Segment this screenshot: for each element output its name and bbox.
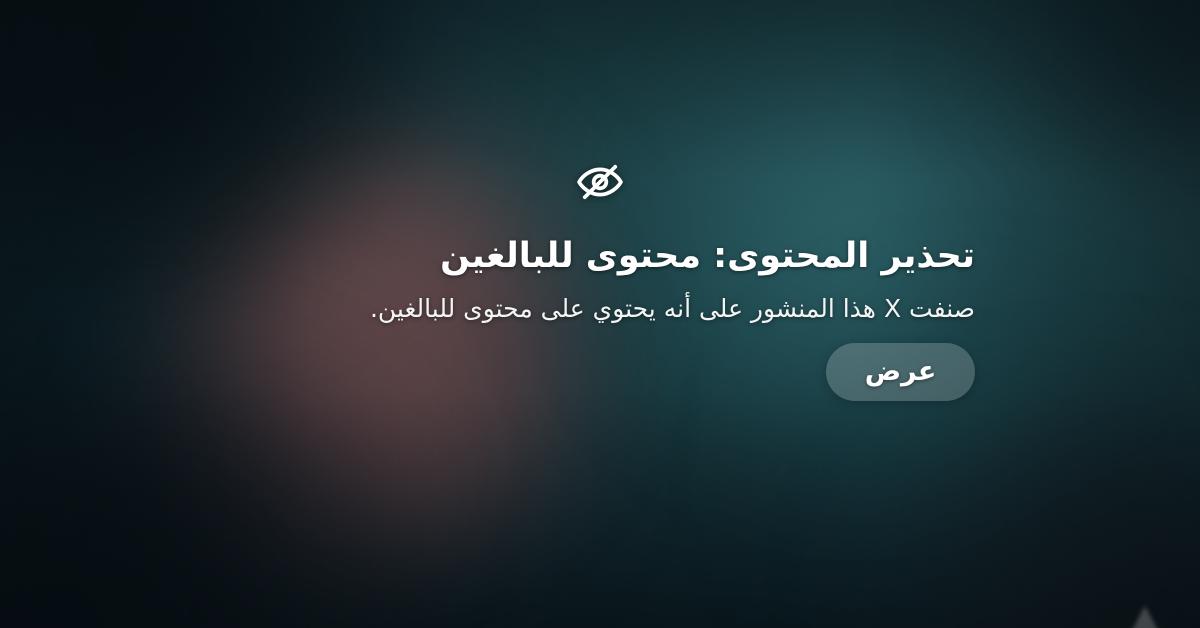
view-content-button[interactable]: عرض [826, 343, 975, 401]
page-title: تحذير المحتوى: محتوى للبالغين [225, 235, 975, 279]
content-warning-overlay: تحذير المحتوى: محتوى للبالغين صنفت X هذا… [0, 0, 1200, 628]
warning-description: صنفت X هذا المنشور على أنه يحتوي على محت… [225, 291, 975, 327]
eye-off-icon [573, 155, 627, 209]
warning-text-block: تحذير المحتوى: محتوى للبالغين صنفت X هذا… [0, 209, 1200, 326]
warning-action-row: عرض [0, 343, 1200, 401]
content-warning-screen: تحذير المحتوى: محتوى للبالغين صنفت X هذا… [0, 0, 1200, 628]
